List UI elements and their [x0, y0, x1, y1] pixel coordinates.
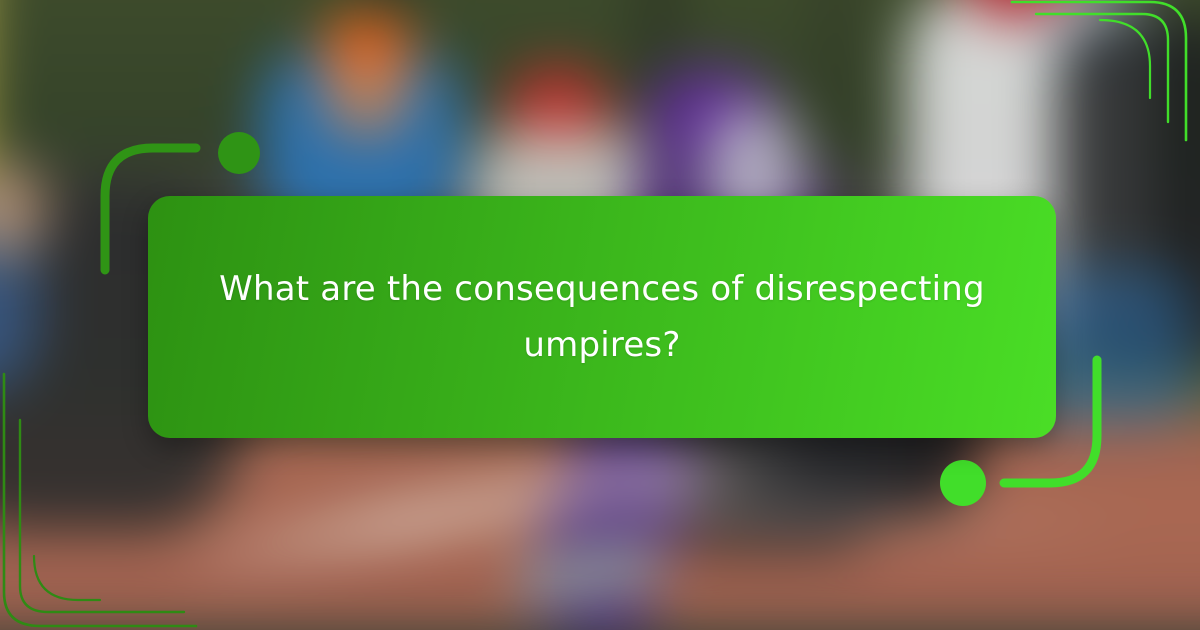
dot-bottom-right — [940, 460, 986, 506]
corner-line-top-right-outer — [1012, 2, 1186, 140]
question-card: What are the consequences of disrespecti… — [148, 196, 1056, 438]
corner-line-bottom-left-middle — [20, 420, 184, 612]
graphic-canvas: What are the consequences of disrespecti… — [0, 0, 1200, 630]
question-text: What are the consequences of disrespecti… — [202, 261, 1002, 374]
corner-line-top-right-middle — [1036, 14, 1168, 122]
dot-top-left — [218, 132, 260, 174]
corner-line-bottom-left-inner — [34, 556, 100, 600]
corner-line-top-right-inner — [1100, 20, 1150, 98]
